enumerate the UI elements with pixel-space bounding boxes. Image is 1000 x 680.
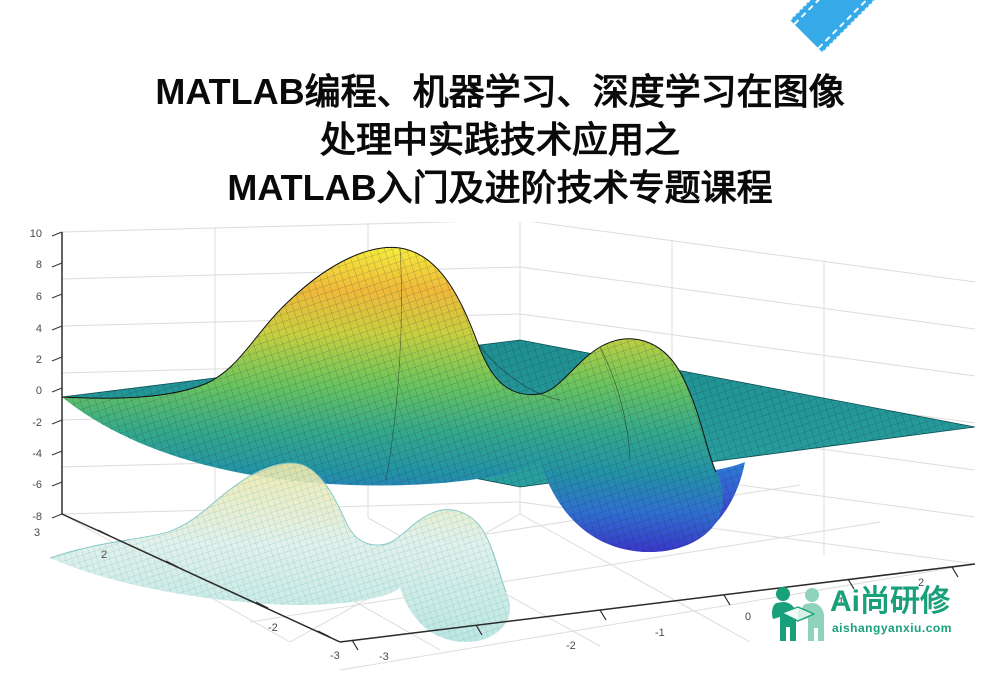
two-people-carrying-book-icon bbox=[768, 585, 828, 643]
logo-url: aishangyanxiu.com bbox=[832, 621, 952, 635]
svg-text:-3: -3 bbox=[330, 650, 340, 662]
svg-text:4: 4 bbox=[36, 323, 42, 335]
svg-text:-2: -2 bbox=[32, 417, 42, 429]
svg-text:10: 10 bbox=[30, 228, 42, 240]
slide-canvas: 10 8 6 4 2 0 -2 -4 -6 -8 3 2 -2 -3 -3 -2… bbox=[0, 0, 1000, 680]
peaks-surface bbox=[62, 247, 723, 552]
brand-logo[interactable]: Ai尚研修 aishangyanxiu.com bbox=[768, 585, 994, 647]
svg-text:6: 6 bbox=[36, 291, 42, 303]
svg-text:-8: -8 bbox=[32, 511, 42, 523]
svg-text:2: 2 bbox=[36, 354, 42, 366]
ribbon-dashed-border bbox=[794, 0, 1000, 49]
svg-text:-3: -3 bbox=[379, 651, 389, 663]
svg-text:0: 0 bbox=[745, 611, 751, 623]
corner-ribbon[interactable]: 免费直播课 bbox=[772, 0, 1000, 183]
svg-text:-2: -2 bbox=[566, 640, 576, 652]
svg-text:-2: -2 bbox=[268, 622, 278, 634]
svg-text:-4: -4 bbox=[32, 448, 42, 460]
logo-wordmark: Ai尚研修 bbox=[830, 585, 950, 619]
svg-text:-6: -6 bbox=[32, 479, 42, 491]
svg-text:8: 8 bbox=[36, 259, 42, 271]
svg-text:-1: -1 bbox=[655, 627, 665, 639]
ribbon-band: 免费直播课 bbox=[790, 0, 1000, 53]
z-tick-labels: 10 8 6 4 2 0 -2 -4 -6 -8 bbox=[30, 228, 42, 523]
svg-text:3: 3 bbox=[34, 527, 40, 539]
svg-text:2: 2 bbox=[101, 549, 107, 561]
svg-text:0: 0 bbox=[36, 385, 42, 397]
z-axis bbox=[52, 232, 62, 518]
